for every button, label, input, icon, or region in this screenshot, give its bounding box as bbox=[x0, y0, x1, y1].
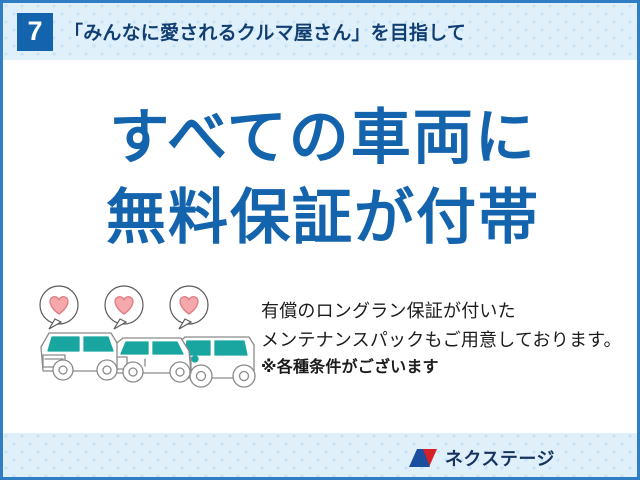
body-copy: 有償のロングラン保証が付いた メンテナンスパックもご用意しております。 ※各種条… bbox=[261, 297, 627, 381]
car-minivan-middle bbox=[107, 338, 191, 382]
headline-line-1: すべての車両に bbox=[3, 108, 640, 168]
car-van-left bbox=[41, 333, 117, 380]
nexstage-n-logo-icon bbox=[408, 446, 438, 470]
banner-footer: ネクステージ bbox=[3, 433, 640, 480]
body-copy-line-1: 有償のロングラン保証が付いた bbox=[261, 297, 627, 326]
heart-bubble-left bbox=[40, 286, 78, 329]
brand-logo: ネクステージ bbox=[408, 445, 555, 471]
heart-bubble-right bbox=[170, 286, 208, 329]
brand-name: ネクステージ bbox=[445, 445, 555, 471]
body-copy-note: ※各種条件がございます bbox=[261, 355, 627, 381]
banner-main: すべての車両に 無料保証が付帯 bbox=[3, 60, 640, 433]
headline-line-2: 無料保証が付帯 bbox=[3, 188, 640, 248]
banner-bottom-row: 有償のロングラン保証が付いた メンテナンスパックもご用意しております。 ※各種条… bbox=[3, 285, 640, 430]
header-number-badge: 7 bbox=[17, 13, 53, 51]
banner-header: 7 「みんなに愛されるクルマ屋さん」を目指して bbox=[3, 3, 640, 60]
cars-illustration-svg bbox=[35, 285, 261, 400]
heart-bubble-middle bbox=[105, 286, 143, 329]
promotional-banner: 7 「みんなに愛されるクルマ屋さん」を目指して すべての車両に 無料保証が付帯 bbox=[0, 0, 640, 480]
cars-with-hearts-illustration bbox=[35, 285, 261, 400]
body-copy-line-2: メンテナンスパックもご用意しております。 bbox=[261, 326, 627, 355]
header-title: 「みんなに愛されるクルマ屋さん」を目指して bbox=[64, 18, 466, 45]
